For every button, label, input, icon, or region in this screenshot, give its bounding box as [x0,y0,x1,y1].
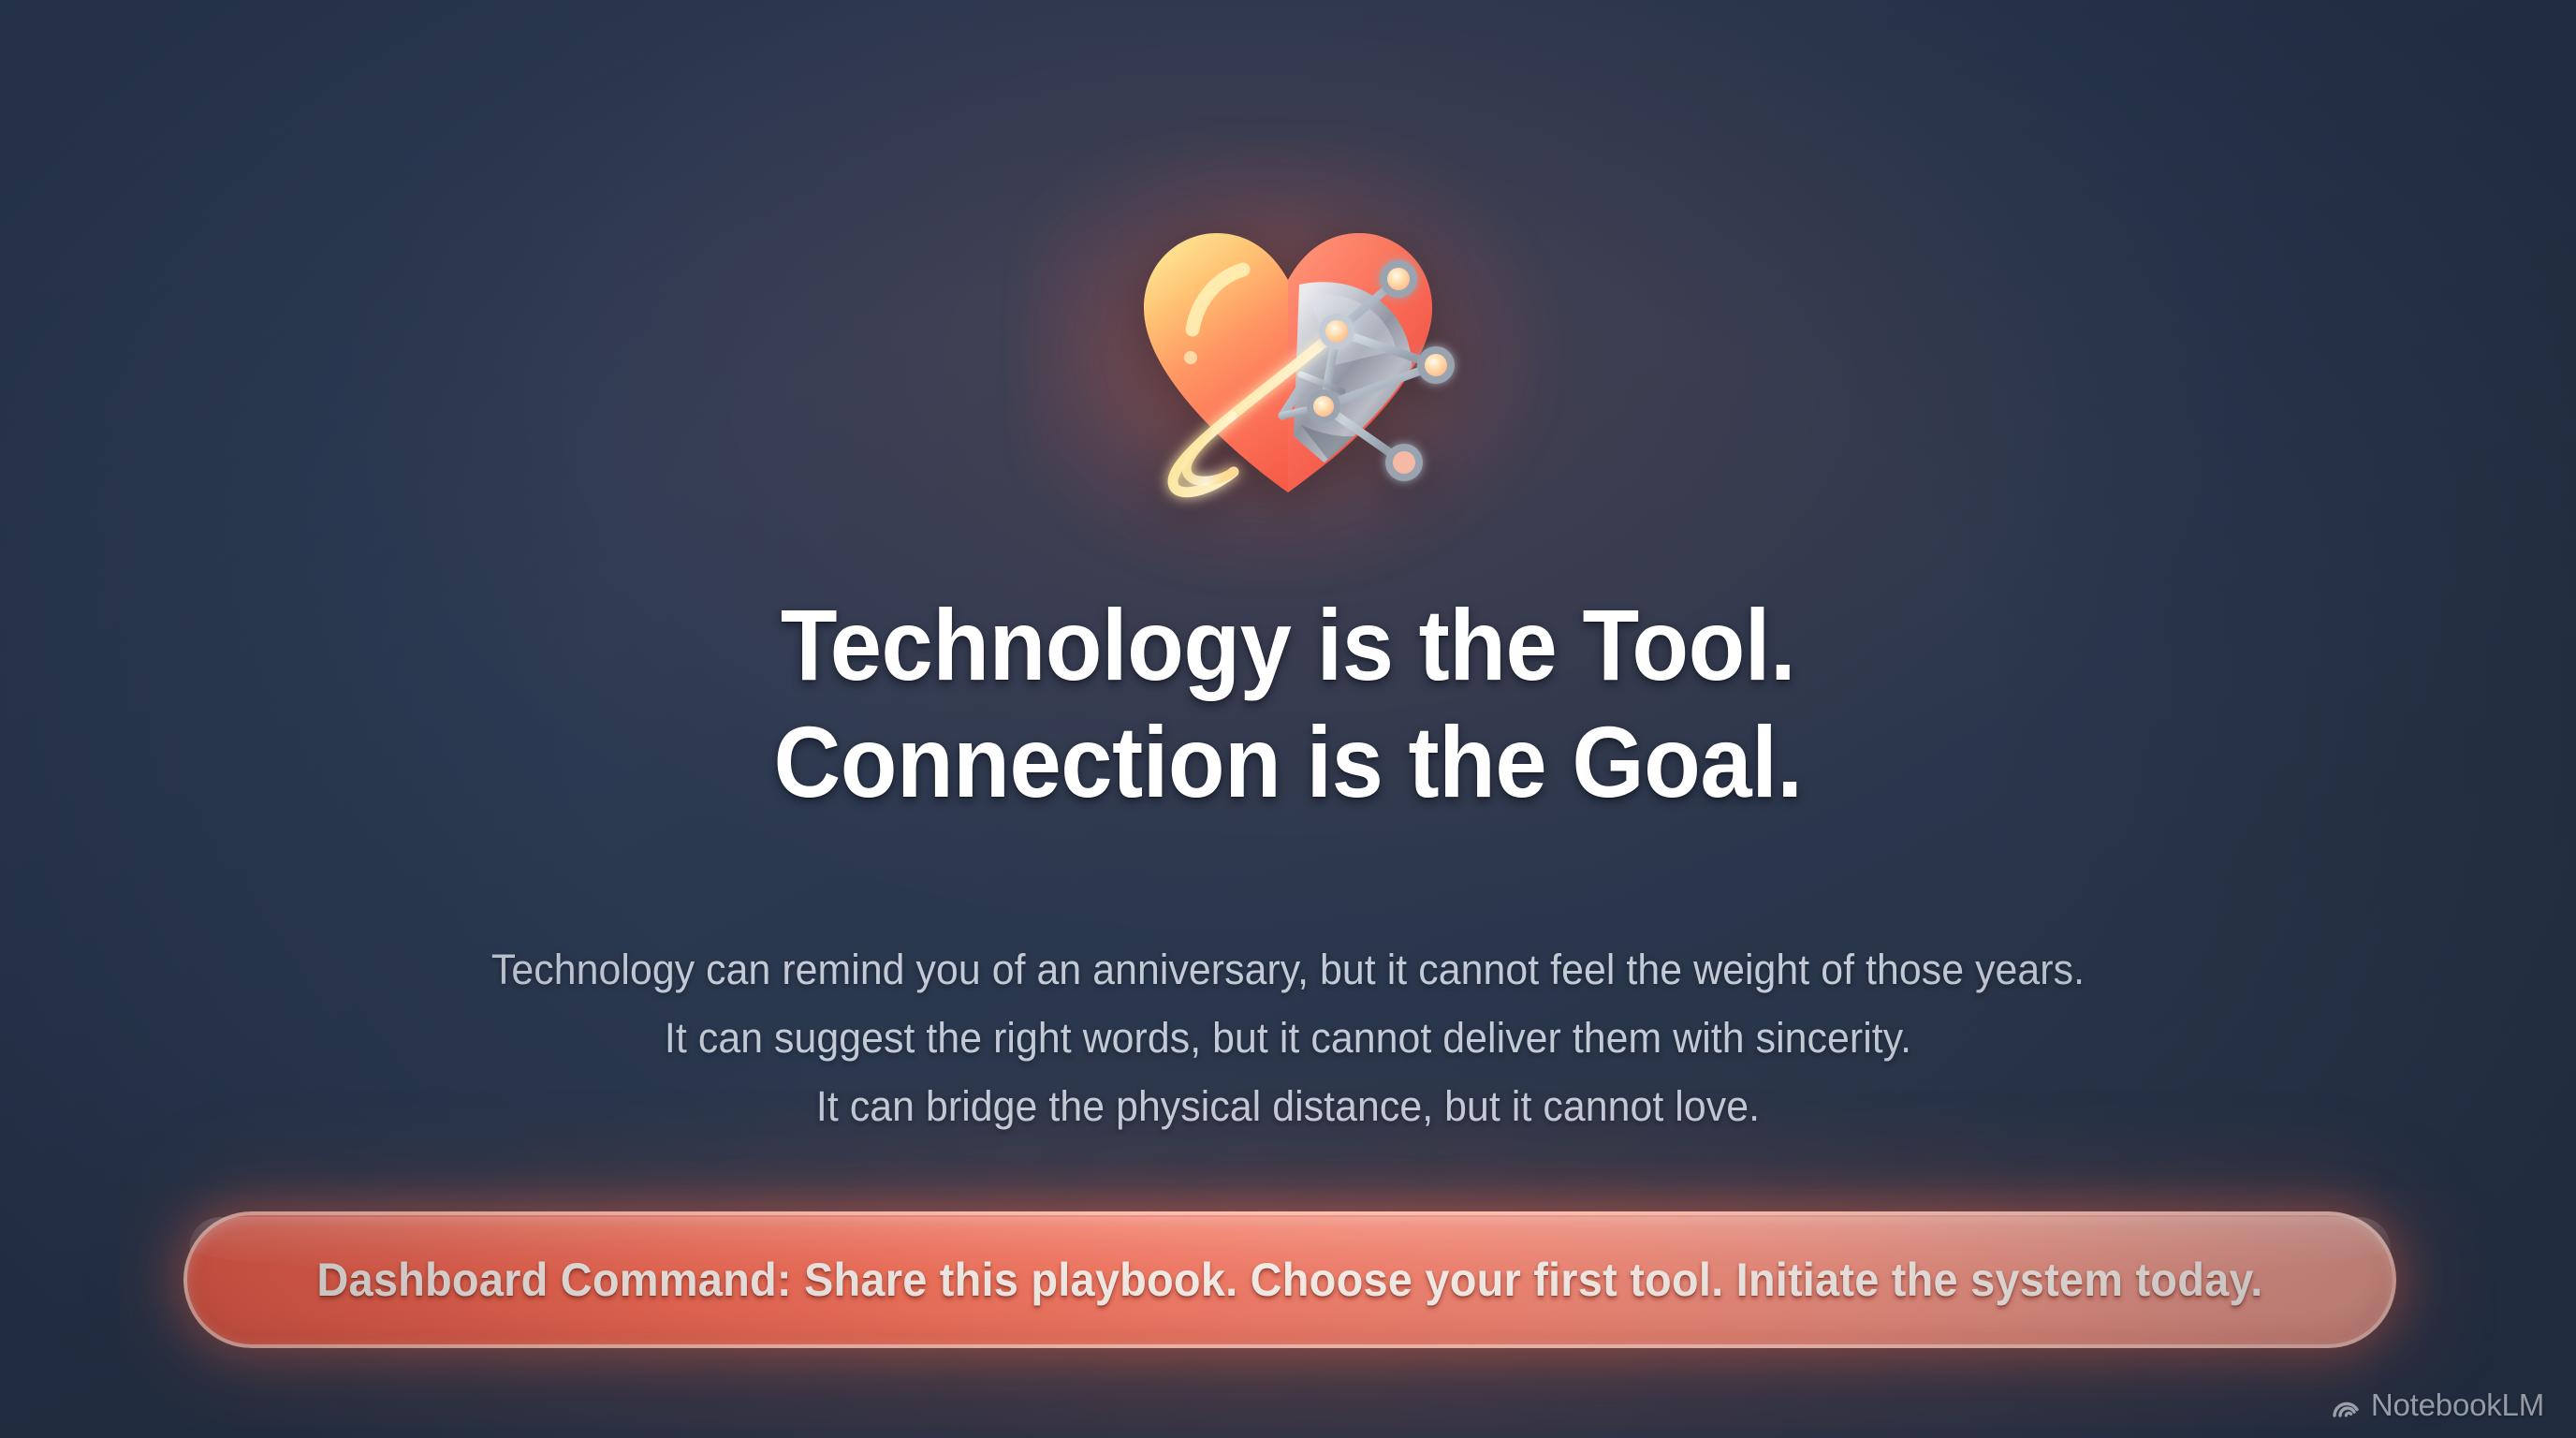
subcopy-line-3: It can bridge the physical distance, but… [65,1073,2511,1141]
watermark-label: NotebookLM [2371,1387,2544,1423]
headline-line-1: Technology is the Tool. [103,586,2473,703]
cta-label: Dashboard Command: Share this playbook. … [316,1253,2262,1307]
subcopy-block: Technology can remind you of an annivers… [65,936,2511,1141]
hero-icon-container [1091,185,1485,534]
headline-line-2: Connection is the Goal. [103,703,2473,820]
page-title: Technology is the Tool. Connection is th… [103,586,2473,821]
subcopy-line-1: Technology can remind you of an annivers… [65,936,2511,1005]
subcopy-line-2: It can suggest the right words, but it c… [65,1005,2511,1073]
presentation-slide: Technology is the Tool. Connection is th… [0,0,2576,1438]
heart-network-icon [1101,191,1475,528]
dashboard-command-button[interactable]: Dashboard Command: Share this playbook. … [183,1211,2396,1348]
notebooklm-watermark: NotebookLM [2331,1387,2544,1423]
notebooklm-arcs-icon [2331,1390,2361,1420]
